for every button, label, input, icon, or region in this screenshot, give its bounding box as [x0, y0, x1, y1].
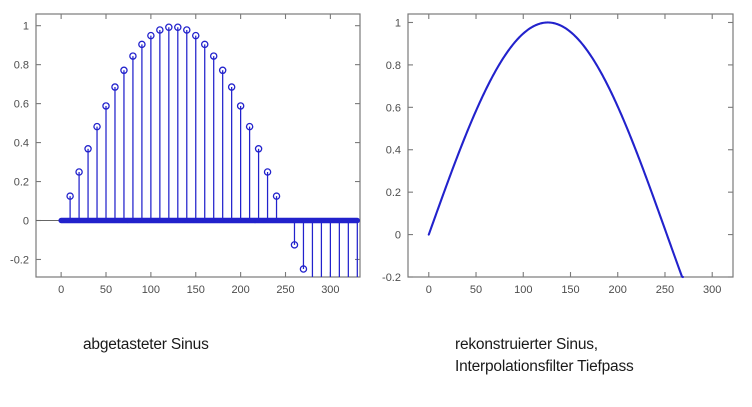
x-tick-label: 300 — [321, 284, 339, 296]
x-tick-label: 0 — [58, 284, 64, 296]
sine-curve — [429, 22, 683, 277]
y-tick-label: 0.4 — [386, 145, 401, 157]
x-tick-label: 50 — [100, 284, 112, 296]
sampled-sine-plot: -0.200.20.40.60.81050100150200250300 — [0, 0, 376, 310]
y-tick-label: 1 — [23, 21, 29, 33]
y-tick-label: -0.2 — [10, 254, 29, 266]
y-tick-label: 1 — [395, 17, 401, 29]
y-tick-label: 0.8 — [14, 60, 29, 72]
stem-series — [36, 24, 360, 277]
axis-frame — [408, 14, 733, 277]
y-tick-label: 0.6 — [386, 102, 401, 114]
x-tick-label: 200 — [231, 284, 249, 296]
axis-frame — [36, 14, 360, 277]
x-tick-label: 250 — [276, 284, 294, 296]
y-tick-label: 0 — [23, 216, 29, 228]
chart-panel-reconstructed-sine: -0.200.20.40.60.81050100150200250300 — [376, 0, 752, 310]
y-tick-label: 0.8 — [386, 60, 401, 72]
x-tick-label: 250 — [656, 284, 674, 296]
caption-reconstructed-sine: rekonstruierter Sinus, Interpolationsfil… — [455, 334, 634, 378]
y-tick-label: 0.2 — [386, 187, 401, 199]
x-tick-label: 300 — [703, 284, 721, 296]
x-tick-label: 100 — [142, 284, 160, 296]
y-tick-label: 0.4 — [14, 138, 29, 150]
reconstructed-sine-plot: -0.200.20.40.60.81050100150200250300 — [376, 0, 752, 310]
caption-sampled-sine: abgetasteter Sinus — [83, 334, 209, 356]
x-tick-label: 0 — [426, 284, 432, 296]
x-tick-label: 150 — [561, 284, 579, 296]
y-tick-label: 0.2 — [14, 177, 29, 189]
figure-container: -0.200.20.40.60.81050100150200250300 -0.… — [0, 0, 752, 407]
x-tick-label: 50 — [470, 284, 482, 296]
x-tick-label: 200 — [609, 284, 627, 296]
x-tick-label: 100 — [514, 284, 532, 296]
y-tick-label: 0.6 — [14, 99, 29, 111]
chart-panel-sampled-sine: -0.200.20.40.60.81050100150200250300 — [0, 0, 376, 310]
x-tick-label: 150 — [187, 284, 205, 296]
y-tick-label: -0.2 — [382, 272, 401, 284]
y-tick-label: 0 — [395, 230, 401, 242]
